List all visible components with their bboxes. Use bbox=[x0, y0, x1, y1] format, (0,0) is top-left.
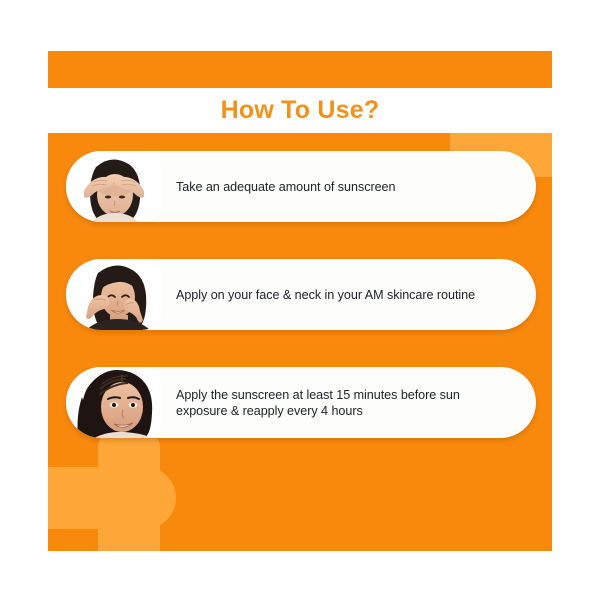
top-accent-band bbox=[48, 51, 552, 88]
woman-applying-sunscreen-to-forehead-photo bbox=[66, 151, 162, 222]
step-card-1: Take an adequate amount of sunscreen bbox=[66, 151, 536, 222]
decorative-cross-bottom-left bbox=[48, 431, 178, 551]
step-1-text: Take an adequate amount of sunscreen bbox=[162, 179, 536, 195]
step-1-thumbnail bbox=[66, 151, 162, 222]
step-card-2: Apply on your face & neck in your AM ski… bbox=[66, 259, 536, 330]
title-strip: How To Use? bbox=[48, 88, 552, 133]
step-card-3: Apply the sunscreen at least 15 minutes … bbox=[66, 367, 536, 438]
page-title: How To Use? bbox=[221, 96, 380, 125]
decorative-cross-horizontal-bar bbox=[48, 467, 176, 529]
how-to-use-infographic: How To Use? bbox=[0, 0, 600, 600]
step-3-thumbnail bbox=[66, 367, 162, 438]
step-2-text: Apply on your face & neck in your AM ski… bbox=[162, 287, 536, 303]
steps-panel: Take an adequate amount of sunscreen bbox=[48, 133, 552, 551]
step-3-text: Apply the sunscreen at least 15 minutes … bbox=[162, 387, 536, 419]
closeup-smiling-woman-face-photo bbox=[66, 367, 162, 438]
smiling-woman-applying-cream-to-cheek-photo bbox=[66, 259, 162, 330]
step-2-thumbnail bbox=[66, 259, 162, 330]
